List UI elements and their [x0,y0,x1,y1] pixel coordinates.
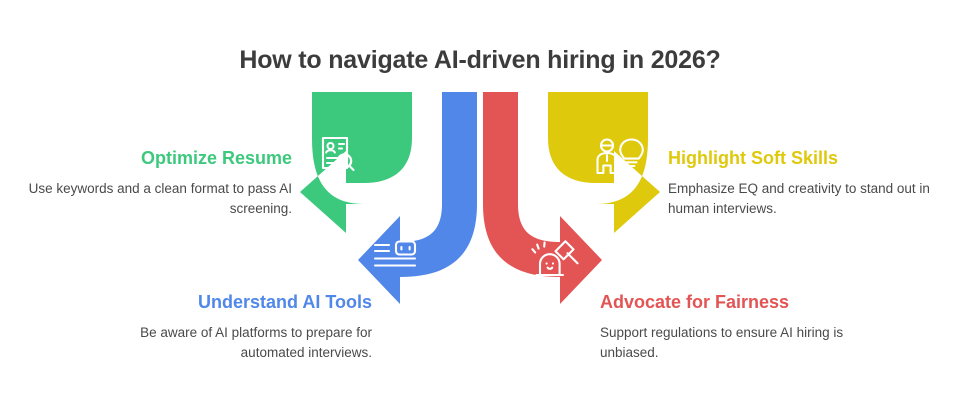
description-advocate-fairness: Support regulations to ensure AI hiring … [600,323,882,364]
heading-highlight-soft-skills: Highlight Soft Skills [668,148,940,170]
heading-understand-ai-tools: Understand AI Tools [90,292,372,314]
description-understand-ai-tools: Be aware of AI platforms to prepare for … [90,323,372,364]
arrow-green [300,92,412,233]
description-optimize-resume: Use keywords and a clean format to pass … [20,179,292,220]
block-advocate-fairness: Advocate for Fairness Support regulation… [600,292,882,363]
arrow-yellow [548,92,660,233]
infographic-canvas: How to navigate AI-driven hiring in 2026… [0,0,960,411]
block-highlight-soft-skills: Highlight Soft Skills Emphasize EQ and c… [668,148,940,219]
block-optimize-resume: Optimize Resume Use keywords and a clean… [20,148,292,219]
heading-advocate-fairness: Advocate for Fairness [600,292,882,314]
block-understand-ai-tools: Understand AI Tools Be aware of AI platf… [90,292,372,363]
description-highlight-soft-skills: Emphasize EQ and creativity to stand out… [668,179,940,220]
heading-optimize-resume: Optimize Resume [20,148,292,170]
page-title: How to navigate AI-driven hiring in 2026… [0,46,960,75]
arrow-diagram [300,92,660,312]
